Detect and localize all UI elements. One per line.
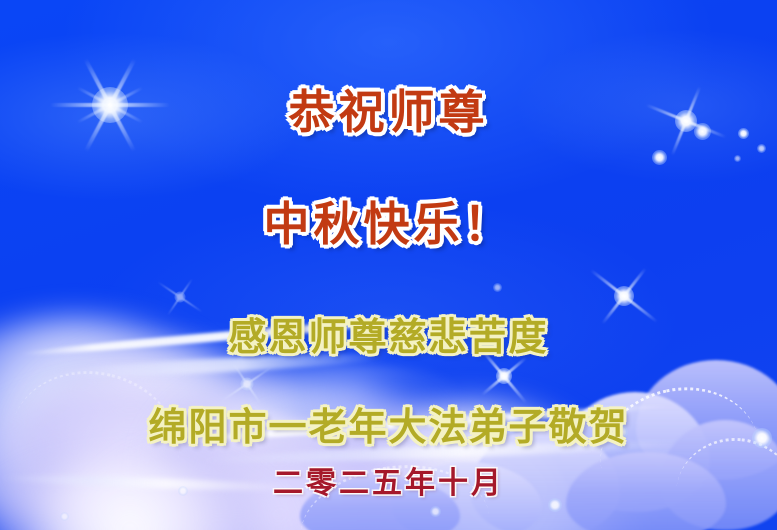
date-line: 二零二五年十月 bbox=[0, 458, 777, 502]
card-text: 恭祝师尊 中秋快乐！ 感恩师尊慈悲苦度 绵阳市一老年大法弟子敬贺 二零二五年十月 bbox=[0, 0, 777, 530]
signature-line: 绵阳市一老年大法弟子敬贺 bbox=[0, 396, 777, 451]
greeting-card: 恭祝师尊 中秋快乐！ 感恩师尊慈悲苦度 绵阳市一老年大法弟子敬贺 二零二五年十月 bbox=[0, 0, 777, 530]
message-line: 感恩师尊慈悲苦度 bbox=[0, 306, 777, 361]
title-line-2: 中秋快乐！ bbox=[0, 188, 777, 254]
title-line-1: 恭祝师尊 bbox=[0, 76, 777, 142]
